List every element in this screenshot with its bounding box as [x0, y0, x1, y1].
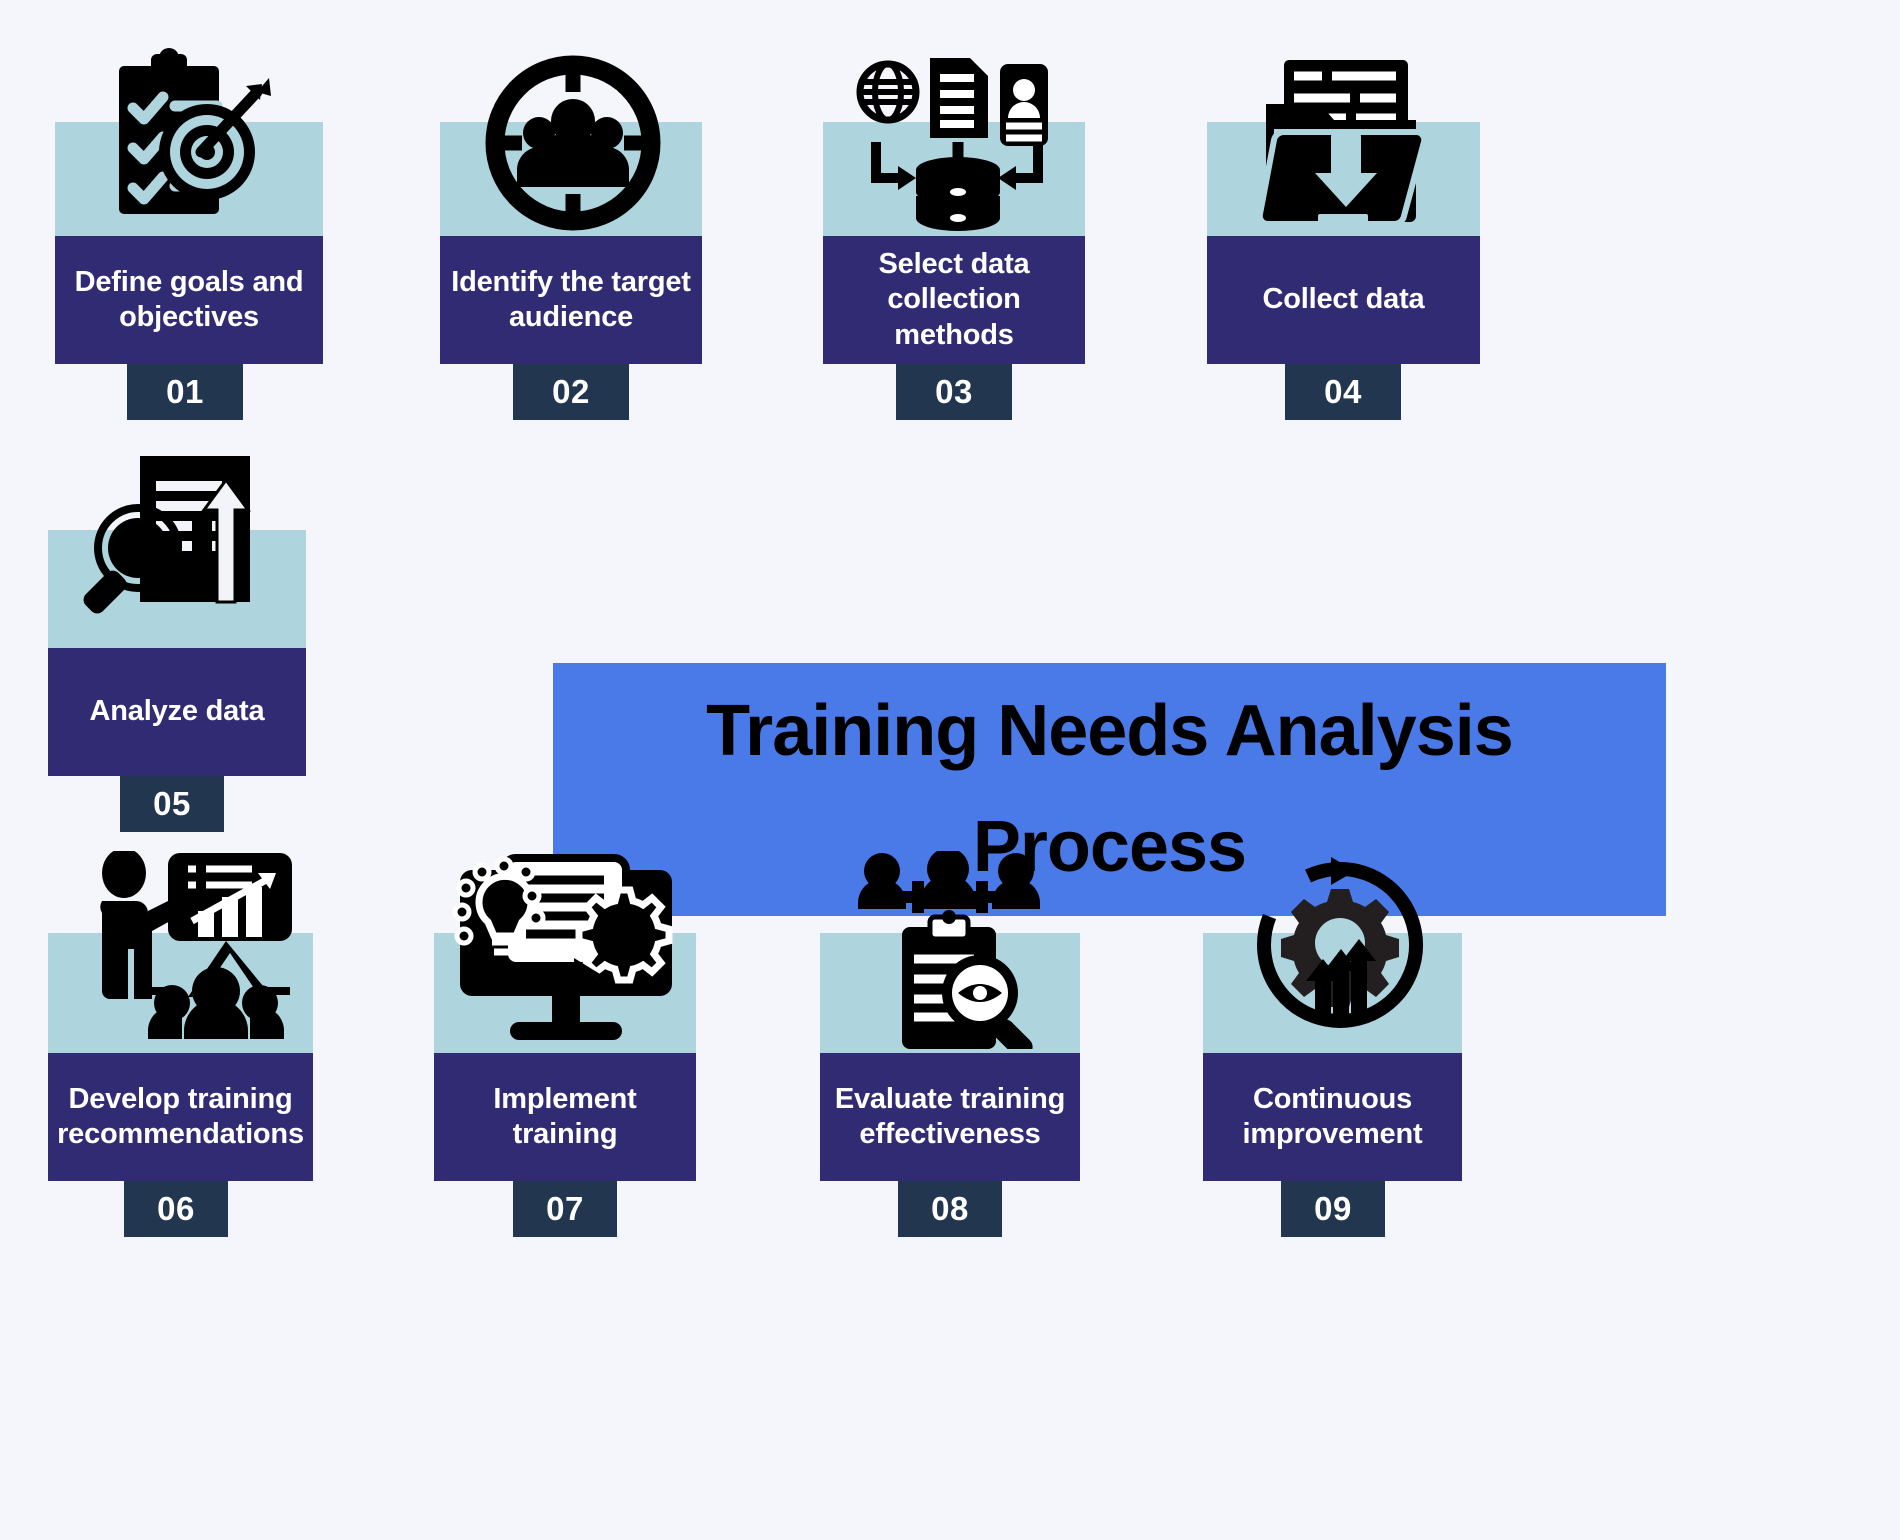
card-label-band: Continuous improvement: [1203, 1053, 1462, 1181]
card-label-band: Identify the target audience: [440, 236, 702, 364]
title-banner: Training Needs Analysis Process: [553, 663, 1666, 916]
step-number-badge: 09: [1281, 1181, 1385, 1237]
card-icon-band: [48, 933, 313, 1053]
step-number: 02: [552, 373, 590, 411]
step-number: 05: [153, 785, 191, 823]
card-icon-band: [48, 530, 306, 648]
page-title: Training Needs Analysis Process: [598, 674, 1622, 904]
step-number-badge: 03: [896, 364, 1012, 420]
step-card-02[interactable]: Identify the target audience 02: [440, 48, 702, 436]
card-label-band: Implement training: [434, 1053, 696, 1181]
card-icon-band: [823, 122, 1085, 236]
card-label-band: Analyze data: [48, 648, 306, 776]
step-card-09[interactable]: Continuous improvement 09: [1203, 933, 1462, 1238]
step-card-08[interactable]: Evaluate training effectiveness 08: [820, 933, 1080, 1238]
step-card-01[interactable]: Define goals and objectives 01: [55, 48, 323, 436]
card-icon-band: [820, 933, 1080, 1053]
step-label: Define goals and objectives: [55, 265, 323, 336]
step-card-03[interactable]: Select data collection methods 03: [823, 48, 1085, 436]
card-icon-band: [440, 122, 702, 236]
card-label-band: Develop training recommendations: [48, 1053, 313, 1181]
step-number-badge: 06: [124, 1181, 228, 1237]
step-number: 04: [1324, 373, 1362, 411]
card-icon-band: [434, 933, 696, 1053]
step-number: 06: [157, 1190, 195, 1228]
card-label-band: Select data collection methods: [823, 236, 1085, 364]
card-label-band: Define goals and objectives: [55, 236, 323, 364]
step-number: 01: [166, 373, 204, 411]
step-label: Identify the target audience: [440, 265, 702, 336]
step-number: 07: [546, 1190, 584, 1228]
card-label-band: Collect data: [1207, 236, 1480, 364]
step-number-badge: 05: [120, 776, 224, 832]
step-number-badge: 02: [513, 364, 629, 420]
step-label: Continuous improvement: [1203, 1082, 1462, 1153]
step-number: 03: [935, 373, 973, 411]
step-number: 09: [1314, 1190, 1352, 1228]
step-label: Develop training recommendations: [48, 1082, 313, 1153]
step-number-badge: 04: [1285, 364, 1401, 420]
step-card-05[interactable]: Analyze data 05: [48, 530, 306, 835]
step-card-04[interactable]: Collect data 04: [1207, 48, 1480, 436]
step-number: 08: [931, 1190, 969, 1228]
card-label-band: Evaluate training effectiveness: [820, 1053, 1080, 1181]
card-icon-band: [1207, 122, 1480, 236]
step-card-06[interactable]: Develop training recommendations 06: [48, 933, 313, 1238]
step-label: Implement training: [434, 1082, 696, 1153]
step-number-badge: 07: [513, 1181, 617, 1237]
step-label: Select data collection methods: [823, 247, 1085, 353]
step-label: Evaluate training effectiveness: [820, 1082, 1080, 1153]
step-number-badge: 08: [898, 1181, 1002, 1237]
step-label: Analyze data: [48, 694, 306, 729]
step-number-badge: 01: [127, 364, 243, 420]
step-label: Collect data: [1207, 282, 1480, 317]
card-icon-band: [55, 122, 323, 236]
step-card-07[interactable]: Implement training 07: [434, 933, 696, 1238]
infographic-canvas: Define goals and objectives 01: [0, 0, 1900, 1540]
card-icon-band: [1203, 933, 1462, 1053]
